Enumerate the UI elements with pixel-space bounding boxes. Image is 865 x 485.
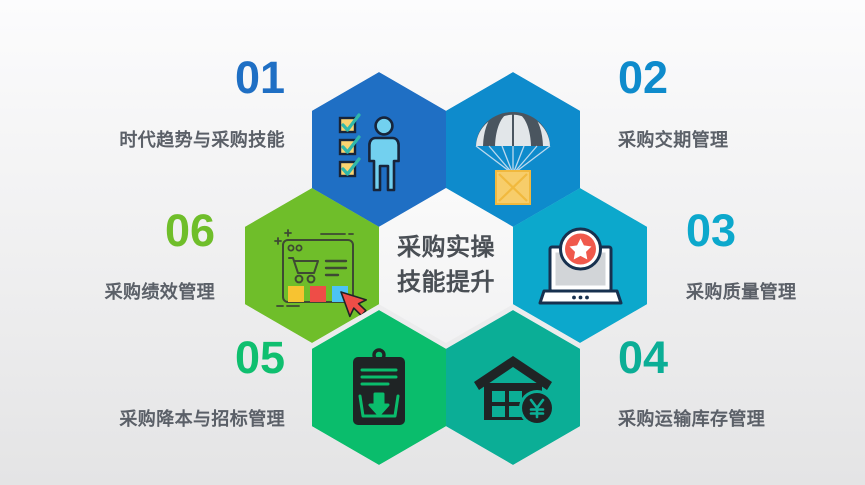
item-number-01: 01 — [235, 55, 285, 100]
hexagon-04[interactable] — [446, 310, 580, 465]
label-group-05[interactable]: 05 采购降本与招标管理 — [40, 335, 285, 431]
hexagon-05[interactable] — [312, 310, 446, 465]
center-title-line1: 采购实操 — [397, 231, 495, 265]
center-title-line2: 技能提升 — [397, 266, 495, 300]
item-caption-03: 采购质量管理 — [686, 278, 796, 304]
label-group-02[interactable]: 02 采购交期管理 — [618, 55, 858, 152]
item-caption-01: 时代趋势与采购技能 — [119, 126, 285, 152]
item-caption-04: 采购运输库存管理 — [618, 405, 765, 431]
label-group-04[interactable]: 04 采购运输库存管理 — [618, 335, 861, 431]
item-caption-06: 采购绩效管理 — [105, 278, 215, 304]
item-number-03: 03 — [686, 208, 736, 253]
label-group-03[interactable]: 03 采购质量管理 — [686, 208, 861, 304]
hexagon-04-shape — [446, 310, 580, 465]
item-caption-02: 采购交期管理 — [618, 126, 728, 152]
item-number-05: 05 — [235, 335, 285, 380]
label-group-01[interactable]: 01 时代趋势与采购技能 — [40, 55, 285, 152]
item-number-06: 06 — [165, 208, 215, 253]
infographic-canvas: 采购实操 技能提升 01 时代趋势与采购技能 02 采购交期管理 03 采购质量… — [0, 0, 865, 485]
item-caption-05: 采购降本与招标管理 — [119, 405, 285, 431]
hexagon-05-shape — [312, 310, 446, 465]
item-number-02: 02 — [618, 55, 668, 100]
label-group-06[interactable]: 06 采购绩效管理 — [40, 208, 215, 304]
clipboard-down-arrow-icon — [353, 350, 405, 425]
item-number-04: 04 — [618, 335, 668, 380]
